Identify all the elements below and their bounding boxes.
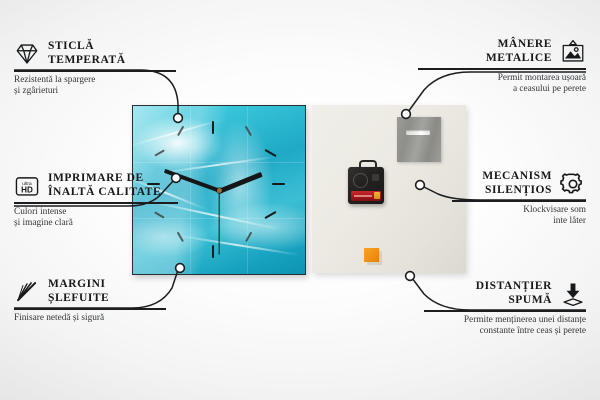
clock-tick (177, 232, 184, 242)
feature-callout-spacer: DISTANȚIER SPUMĂ Permite menținerea unei… (424, 280, 586, 337)
feature-callout-glass: STICLĂ TEMPERATĂ Rezistentă la spargere … (14, 40, 184, 97)
mechanism-hanging-loop (359, 160, 377, 171)
clock-tick (272, 183, 285, 185)
hanger-slot (406, 130, 430, 135)
mechanism-nub (372, 174, 379, 181)
feature-head: STICLĂ TEMPERATĂ (14, 40, 184, 67)
feature-head: MARGINI ȘLEFUITE (14, 278, 174, 305)
feature-callout-hangers: MÂNERE METALICE Permit montarea ușoară a… (418, 38, 586, 95)
mechanism-dial (353, 173, 368, 188)
feature-head: DISTANȚIER SPUMĂ (424, 280, 586, 307)
metal-hanger-bracket (397, 117, 441, 162)
clock-tick (177, 126, 184, 136)
ultra-hd-icon: ultra HD (14, 173, 40, 199)
clock-tick (212, 121, 214, 134)
clock-tick (154, 149, 164, 156)
clock-second-hand (218, 190, 219, 254)
feature-head: ultra HD IMPRIMARE DE ÎNALTĂ CALITATE (14, 172, 186, 199)
feature-subtitle: Rezistentă la spargere și zgârieturi (14, 75, 184, 97)
feature-callout-edges: MARGINI ȘLEFUITE Finisare netedă și sigu… (14, 278, 174, 324)
print-seam (133, 162, 305, 163)
feather-streak (129, 119, 222, 147)
feather-streak (174, 234, 301, 256)
feature-rule (14, 308, 166, 310)
feature-callout-mechanism: MECANISM SILENȚIOS Klockvisare som inte … (452, 170, 586, 227)
clock-tick (212, 245, 214, 258)
battery-stripe (354, 195, 372, 197)
svg-text:HD: HD (21, 185, 33, 194)
feature-subtitle: Finisare netedă și sigură (14, 313, 174, 324)
feature-callout-print: ultra HD IMPRIMARE DE ÎNALTĂ CALITATE Cu… (14, 172, 186, 229)
battery-plus-terminal (374, 192, 380, 199)
feature-title: MARGINI ȘLEFUITE (48, 278, 109, 305)
feature-rule (418, 68, 586, 70)
feature-title: DISTANȚIER SPUMĂ (476, 280, 552, 307)
feature-title: MÂNERE METALICE (486, 38, 552, 65)
foam-spacer (364, 248, 379, 262)
silent-clock-mechanism (348, 167, 384, 204)
feature-title: STICLĂ TEMPERATĂ (48, 40, 126, 67)
feature-title: MECANISM SILENȚIOS (482, 170, 552, 197)
feature-head: MÂNERE METALICE (418, 38, 586, 65)
foam-spacer-arrow-icon (560, 281, 586, 307)
feature-rule (14, 202, 178, 204)
clock-tick (264, 149, 276, 157)
clock-hour-hand (218, 171, 262, 192)
feature-title: IMPRIMARE DE ÎNALTĂ CALITATE (48, 172, 161, 199)
feature-subtitle: Permite menținerea unei distanțe constan… (424, 315, 586, 337)
feature-rule (14, 70, 176, 72)
infographic-canvas: STICLĂ TEMPERATĂ Rezistentă la spargere … (0, 0, 600, 400)
picture-frame-icon (560, 39, 586, 65)
feature-rule (452, 200, 586, 202)
clock-back-panel (312, 105, 466, 273)
mechanism-battery (351, 191, 381, 201)
clock-center-hub (217, 188, 222, 193)
print-seam (190, 106, 191, 274)
feature-subtitle: Klockvisare som inte låter (452, 205, 586, 227)
polished-edges-icon (14, 279, 40, 305)
feature-subtitle: Culori intense și imagine clară (14, 207, 186, 229)
feature-rule (424, 310, 586, 312)
feature-subtitle: Permit montarea ușoară a ceasului pe per… (418, 73, 586, 95)
diamond-icon (14, 41, 40, 67)
gear-icon (560, 171, 586, 197)
feature-head: MECANISM SILENȚIOS (452, 170, 586, 197)
